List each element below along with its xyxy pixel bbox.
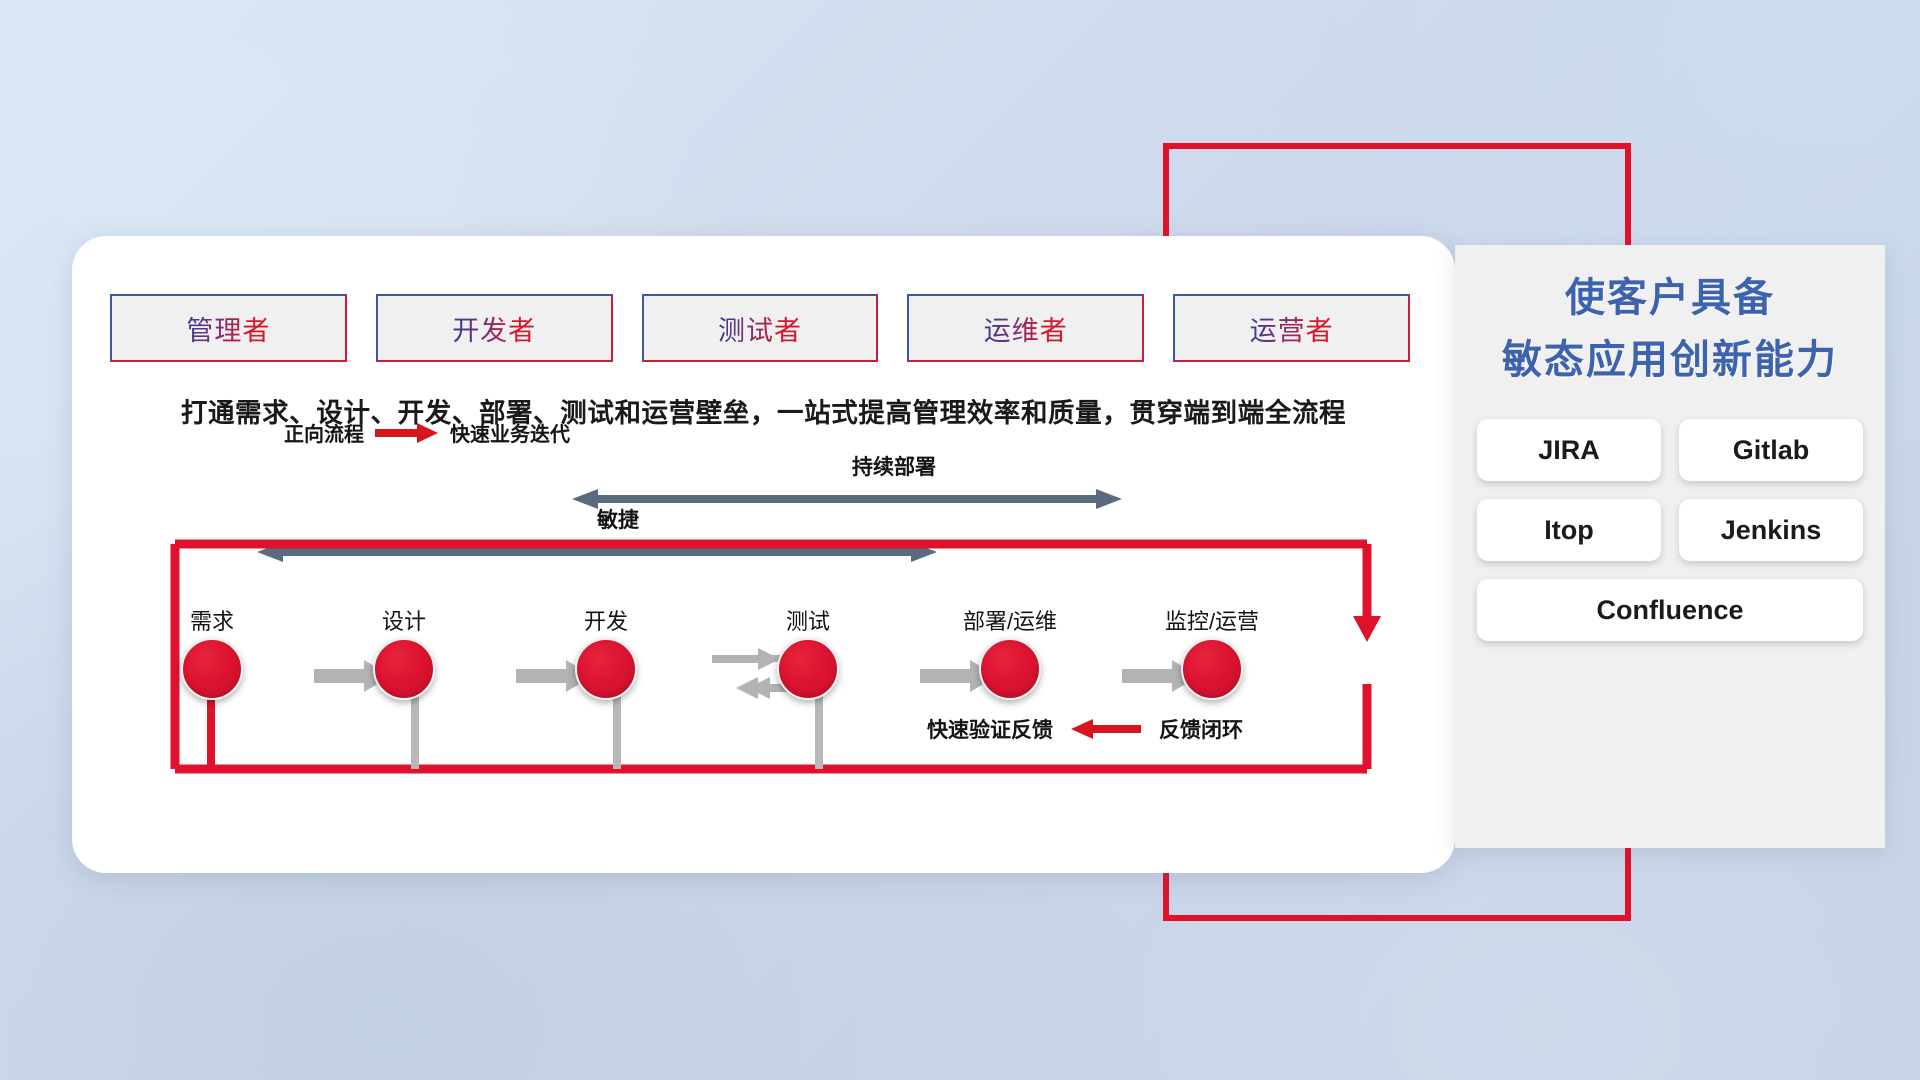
stage-label: 需求 <box>152 604 272 636</box>
role-box-ops[interactable]: 运维者 <box>907 294 1144 362</box>
stage-dot <box>373 638 435 700</box>
role-box-developer[interactable]: 开发者 <box>376 294 613 362</box>
devops-main-card: 管理者 开发者 测试者 运维者 运营者 打通需求、设计、开发、部署、测试和运营壁… <box>72 236 1455 873</box>
legend-feedback-right-label: 反馈闭环 <box>1159 714 1243 744</box>
stage-monitor-operations[interactable]: 监控/运营 <box>1152 604 1272 700</box>
arrow-left-red-icon <box>1070 718 1142 740</box>
legend-forward-left-label: 正向流程 <box>284 418 364 447</box>
double-arrow-steel-icon-cd <box>572 486 1122 512</box>
tool-chip-confluence[interactable]: Confluence <box>1477 579 1863 641</box>
role-box-row: 管理者 开发者 测试者 运维者 运营者 <box>110 294 1410 362</box>
value-proposition-panel: 使客户具备 敏态应用创新能力 JIRA Gitlab Itop Jenkins … <box>1455 245 1885 848</box>
panel-title-line2: 敏态应用创新能力 <box>1455 329 1885 391</box>
stage-development[interactable]: 开发 <box>546 604 666 700</box>
role-box-tester[interactable]: 测试者 <box>642 294 879 362</box>
legend-forward-right-label: 快速业务迭代 <box>450 418 570 447</box>
role-box-manager[interactable]: 管理者 <box>110 294 347 362</box>
tool-chip-jenkins[interactable]: Jenkins <box>1679 499 1863 561</box>
pipeline-row: 需求 设计 开发 测试 <box>72 604 1455 724</box>
tool-chip-grid: JIRA Gitlab Itop Jenkins Confluence <box>1477 419 1863 641</box>
slide-canvas: 管理者 开发者 测试者 运维者 运营者 打通需求、设计、开发、部署、测试和运营壁… <box>0 0 1920 1080</box>
stage-testing[interactable]: 测试 <box>748 604 868 700</box>
stage-dot <box>575 638 637 700</box>
role-box-operations[interactable]: 运营者 <box>1173 294 1410 362</box>
legend-feedback-left-label: 快速验证反馈 <box>927 714 1053 744</box>
role-label: 测试者 <box>718 309 802 348</box>
double-arrow-steel-icon-agile <box>257 539 937 565</box>
tool-chip-gitlab[interactable]: Gitlab <box>1679 419 1863 481</box>
stage-dot <box>181 638 243 700</box>
headline-text: 打通需求、设计、开发、部署、测试和运营壁垒，一站式提高管理效率和质量，贯穿端到端… <box>72 391 1455 430</box>
panel-title-line1: 使客户具备 <box>1455 267 1885 329</box>
stage-label: 监控/运营 <box>1152 604 1272 636</box>
stage-label: 开发 <box>546 604 666 636</box>
role-label: 运维者 <box>984 309 1068 348</box>
role-label: 运营者 <box>1250 309 1334 348</box>
band-label-agile: 敏捷 <box>597 504 639 534</box>
legend-forward-flow: 正向流程 快速业务迭代 <box>284 418 570 447</box>
stage-dot <box>777 638 839 700</box>
stage-label: 测试 <box>748 604 868 636</box>
stage-label: 部署/运维 <box>950 604 1070 636</box>
tool-chip-jira[interactable]: JIRA <box>1477 419 1661 481</box>
role-label: 管理者 <box>186 309 270 348</box>
legend-feedback-loop: 快速验证反馈 反馈闭环 <box>927 714 1243 744</box>
role-label: 开发者 <box>452 309 536 348</box>
stage-dot <box>1181 638 1243 700</box>
band-label-continuous-deployment: 持续部署 <box>852 451 936 481</box>
stage-label: 设计 <box>344 604 464 636</box>
stage-dot <box>979 638 1041 700</box>
stage-design[interactable]: 设计 <box>344 604 464 700</box>
stage-requirements[interactable]: 需求 <box>152 604 272 700</box>
arrow-right-red-icon <box>375 422 439 444</box>
tool-chip-itop[interactable]: Itop <box>1477 499 1661 561</box>
stage-deploy-ops[interactable]: 部署/运维 <box>950 604 1070 700</box>
panel-title: 使客户具备 敏态应用创新能力 <box>1455 267 1885 391</box>
